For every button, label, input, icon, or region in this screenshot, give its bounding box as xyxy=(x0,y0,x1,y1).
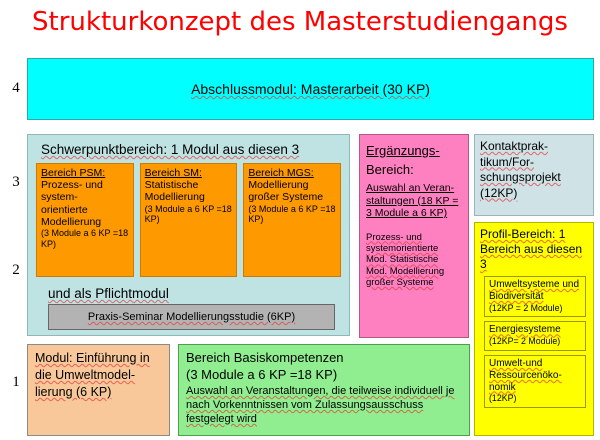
bereich-sm-kp: (3 Module a 6 KP =18 KP) xyxy=(145,204,233,225)
box-praxis-seminar[interactable]: Praxis-Seminar Modellierungsstudie (6KP) xyxy=(48,304,335,330)
box-profil-umweltsysteme[interactable]: Umweltsysteme und Biodiversität (12KP = … xyxy=(484,276,586,317)
bereich-mgs-line-2: großer Systeme xyxy=(248,191,336,203)
pflichtmodul-label: und als Pflichtmodul xyxy=(48,286,341,301)
bereich-psm-head: Bereich PSM: xyxy=(41,167,129,179)
praxis-seminar-label: Praxis-Seminar Modellierungsstudie (6KP) xyxy=(88,311,295,323)
bereich-sm-line-2: Modellierung xyxy=(145,191,233,203)
ergaenzung-subtitle: Auswahl an Veran-staltungen (18 KP = 3 M… xyxy=(366,182,462,220)
bereich-sm-head: Bereich SM: xyxy=(145,167,233,179)
box-kontaktpraktikum[interactable]: Kontaktprak-tikum/For-schungsprojekt (12… xyxy=(474,134,594,216)
bereich-mgs-head: Bereich MGS: xyxy=(248,167,336,179)
box-profilbereich[interactable]: Profil-Bereich: 1 Bereich aus diesen 3 U… xyxy=(474,222,594,436)
ergaenzung-title-line-1: Ergänzungs- xyxy=(366,141,462,160)
level-label-3: 3 xyxy=(2,174,30,191)
basis-heading-line-1: Bereich Basiskompetenzen xyxy=(186,350,462,367)
bereich-psm-line-4: Modellierung xyxy=(41,216,129,228)
profil-umweltsysteme-kp: (12KP = 2 Module) xyxy=(489,303,581,315)
ergaenzung-items: Prozess- und systemorientierte Mod. Stat… xyxy=(366,232,462,289)
bereich-psm-line-3: orientierte xyxy=(41,204,129,216)
basis-heading-line-2: (3 Module a 6 KP =18 KP) xyxy=(186,367,462,384)
profil-energiesysteme-kp: (12KP= 2 Module) xyxy=(489,336,581,348)
profil-ressourcenoekonomik-name: Umwelt-und Ressourcenöko-nomik xyxy=(489,358,581,393)
box-schwerpunktbereich[interactable]: Schwerpunktbereich: 1 Modul aus diesen 3… xyxy=(27,134,350,336)
diagram-canvas: Strukturkonzept des Masterstudiengangs 4… xyxy=(0,0,600,440)
level-label-4: 4 xyxy=(2,80,30,97)
page-title: Strukturkonzept des Masterstudiengangs xyxy=(0,6,600,38)
schwerpunkt-module-row: Bereich PSM: Prozess- und system- orient… xyxy=(36,163,341,277)
einfuehrung-label: Modul: Einführung in die Umweltmodel-lie… xyxy=(35,351,150,399)
bereich-mgs-kp: (3 Module a 6 KP =18 KP) xyxy=(248,204,336,225)
abschlussmodul-label: Abschlussmodul: Masterarbeit (30 KP) xyxy=(191,81,430,97)
basis-body: Auswahl an Veranstaltungen, die teilweis… xyxy=(186,384,462,426)
profil-energiesysteme-name: Energiesysteme xyxy=(489,324,581,336)
box-ergaenzungsbereich[interactable]: Ergänzungs- Bereich: Auswahl an Veran-st… xyxy=(359,134,469,338)
box-bereich-sm[interactable]: Bereich SM: Statistische Modellierung (3… xyxy=(140,163,238,277)
box-einfuehrung-umweltmodellierung[interactable]: Modul: Einführung in die Umweltmodel-lie… xyxy=(27,344,170,436)
schwerpunkt-heading: Schwerpunktbereich: 1 Modul aus diesen 3 xyxy=(41,142,341,157)
bereich-sm-line-1: Statistische xyxy=(145,179,233,191)
level-label-1: 1 xyxy=(2,374,30,391)
box-bereich-psm[interactable]: Bereich PSM: Prozess- und system- orient… xyxy=(36,163,134,277)
ergaenzung-title-line-2: Bereich: xyxy=(366,160,462,179)
kontaktpraktikum-label: Kontaktprak-tikum/For-schungsprojekt (12… xyxy=(480,139,561,200)
box-profil-ressourcenoekonomik[interactable]: Umwelt-und Ressourcenöko-nomik (12KP) xyxy=(484,355,586,408)
box-abschlussmodul[interactable]: Abschlussmodul: Masterarbeit (30 KP) xyxy=(27,58,594,120)
bereich-mgs-line-1: Modellierung xyxy=(248,179,336,191)
profil-ressourcenoekonomik-kp: (12KP) xyxy=(489,393,581,405)
box-basiskompetenzen[interactable]: Bereich Basiskompetenzen (3 Module a 6 K… xyxy=(178,344,470,436)
profil-heading: Profil-Bereich: 1 Bereich aus diesen 3 xyxy=(480,227,588,272)
bereich-psm-line-2: system- xyxy=(41,191,129,203)
box-bereich-mgs[interactable]: Bereich MGS: Modellierung großer Systeme… xyxy=(243,163,341,277)
box-profil-energiesysteme[interactable]: Energiesysteme (12KP= 2 Module) xyxy=(484,321,586,351)
profil-umweltsysteme-name: Umweltsysteme und Biodiversität xyxy=(489,279,581,303)
level-label-2: 2 xyxy=(2,262,30,279)
bereich-psm-kp: (3 Module a 6 KP =18 KP) xyxy=(41,228,129,249)
bereich-psm-line-1: Prozess- und xyxy=(41,179,129,191)
